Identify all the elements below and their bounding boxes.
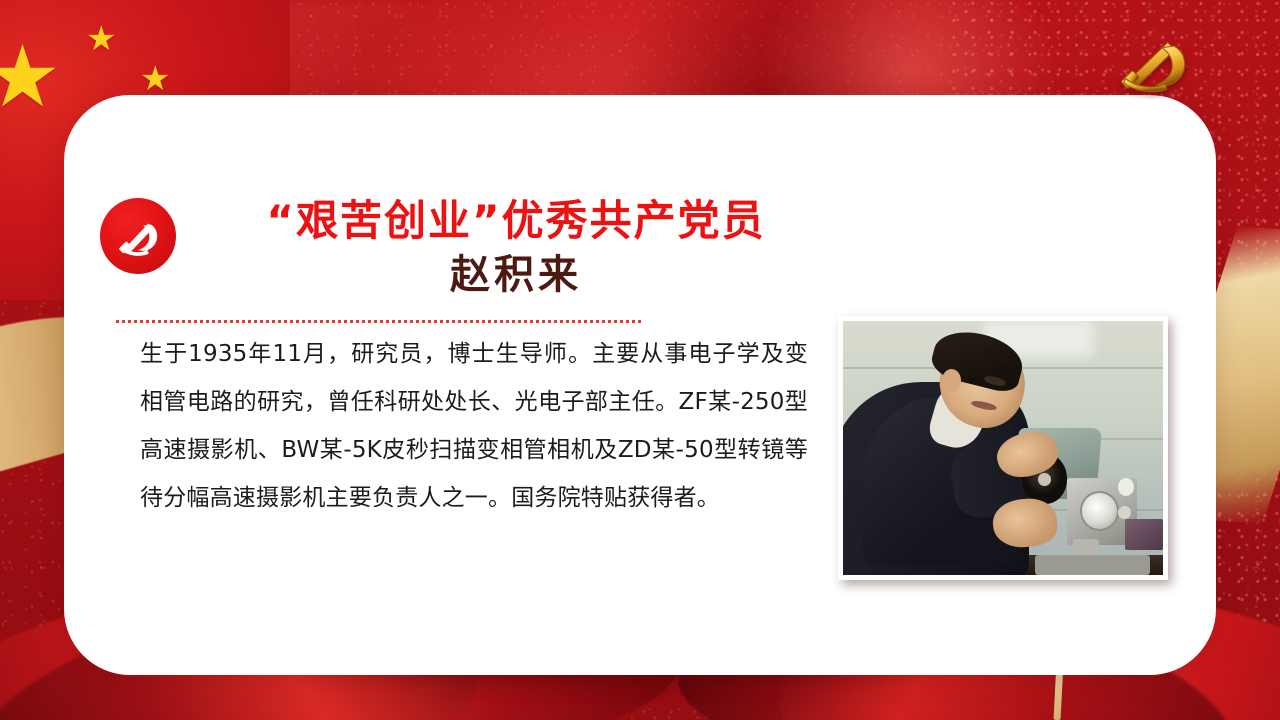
party-badge-icon — [100, 198, 176, 274]
photo-instrument-lens-dot — [1038, 473, 1051, 486]
flag-star-small-2: ★ — [140, 62, 170, 96]
photo-instrument-ring — [1080, 491, 1119, 531]
portrait-photo — [843, 321, 1163, 575]
biography-paragraph: 生于1935年11月，研究员，博士生导师。主要从事电子学及变相管电路的研究，曾任… — [140, 330, 808, 522]
photo-side-object — [1125, 519, 1163, 549]
slide-root: ★ ★ ★ ★ ★ — [0, 0, 1280, 720]
person-name: 赵积来 — [196, 250, 836, 300]
photo-instrument-base — [1035, 555, 1150, 575]
party-emblem-icon — [1110, 28, 1202, 100]
page-title: “艰苦创业”优秀共产党员 — [196, 196, 836, 246]
dotted-divider — [116, 320, 642, 323]
portrait-photo-frame — [838, 316, 1168, 580]
title-block: “艰苦创业”优秀共产党员 赵积来 — [196, 196, 836, 300]
photo-instrument-knob-2 — [1118, 506, 1131, 519]
flag-star-small-1: ★ — [86, 22, 116, 56]
flag-star-large: ★ — [0, 34, 61, 120]
